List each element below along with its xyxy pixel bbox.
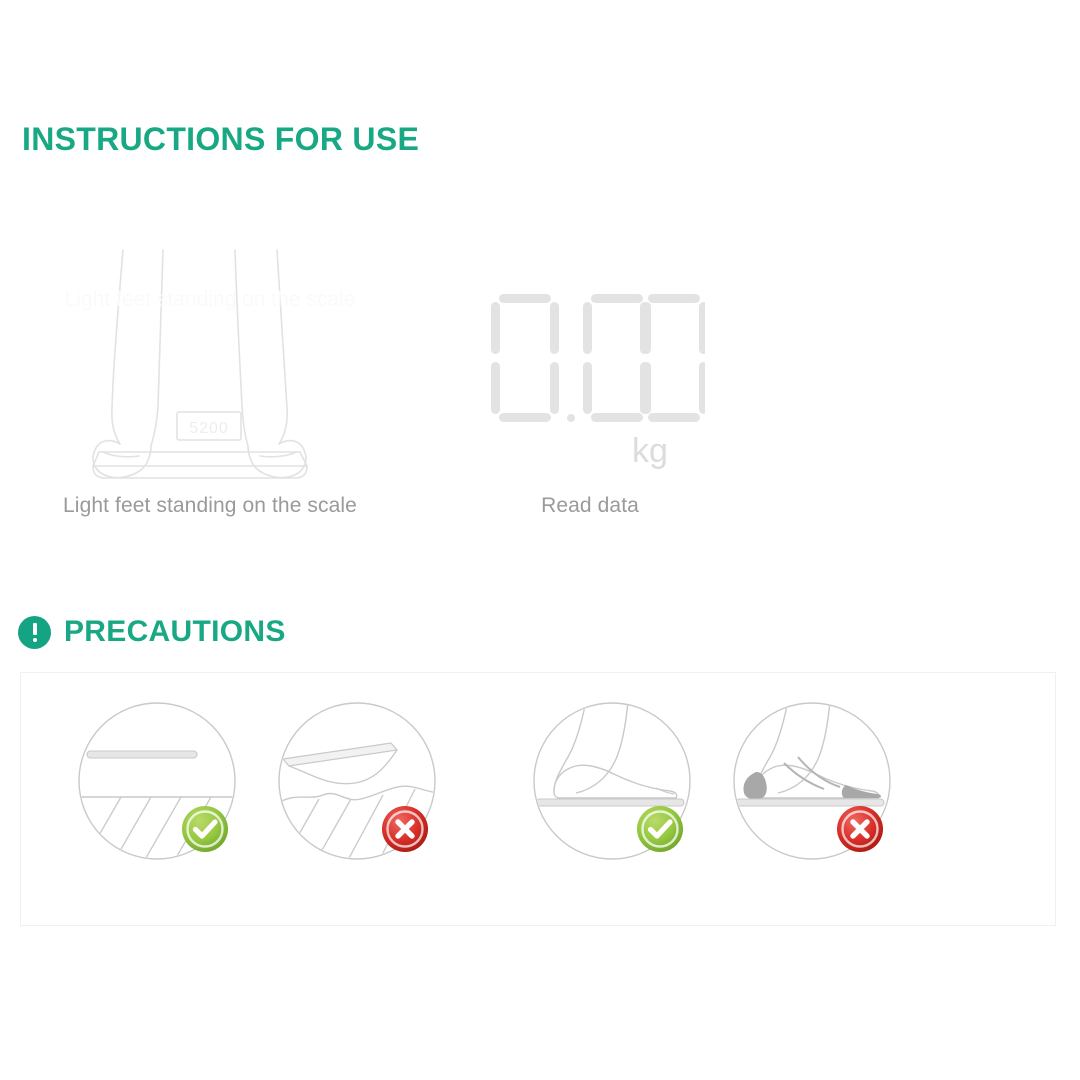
precaution-bare-foot xyxy=(524,695,704,875)
precaution-wearing-socks-shoes xyxy=(724,695,904,875)
lcd-display-icon: kg xyxy=(430,240,750,480)
precaution-uneven-soft-surface xyxy=(269,695,449,875)
precautions-title: PRECAUTIONS xyxy=(64,615,286,649)
instruction-step-standing: 5200 Light feet standing on the scale xyxy=(50,240,370,518)
step-standing-caption: Light feet standing on the scale xyxy=(50,494,370,518)
caption-ghost-shadow: Light feet standing on the scale xyxy=(50,288,370,312)
step-read-caption: Read data xyxy=(430,494,750,518)
precautions-header: PRECAUTIONS xyxy=(18,615,286,649)
cross-badge xyxy=(382,806,428,852)
instructions-heading: INSTRUCTIONS FOR USE xyxy=(22,121,419,158)
precaution-items xyxy=(21,673,1055,925)
precaution-flat-hard-surface xyxy=(69,695,249,875)
check-badge xyxy=(637,806,683,852)
scale-lcd-reading: 5200 xyxy=(189,420,229,437)
lcd-unit-label: kg xyxy=(632,432,668,470)
instruction-steps: 5200 Light feet standing on the scale xyxy=(0,240,1080,540)
precautions-panel xyxy=(20,672,1056,926)
check-badge xyxy=(182,806,228,852)
cross-badge xyxy=(837,806,883,852)
feet-on-scale-icon: 5200 xyxy=(50,240,370,480)
exclamation-circle-icon xyxy=(18,616,51,649)
instruction-step-read: kg Read data xyxy=(430,240,750,518)
